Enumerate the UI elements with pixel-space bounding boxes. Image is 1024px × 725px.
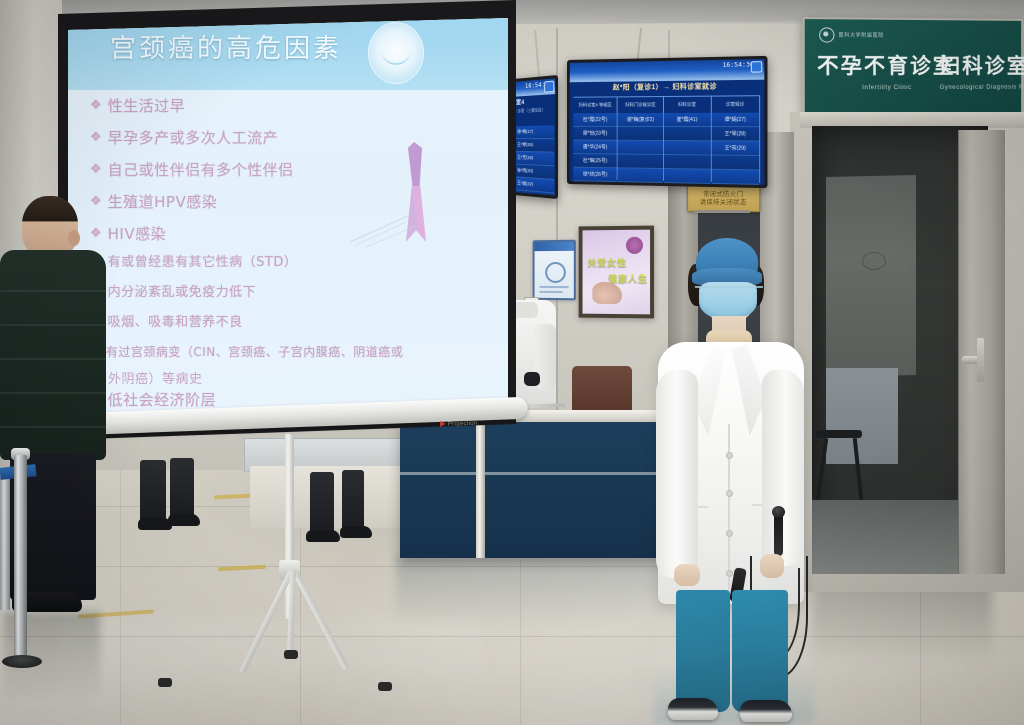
screen-brand-label: Projection bbox=[448, 421, 478, 428]
queue-cell: 杜*霞(22号) bbox=[573, 114, 617, 128]
door-curtain bbox=[826, 175, 916, 377]
sign-room-infertility-en: Infertility Clinic bbox=[817, 85, 955, 92]
queue-post bbox=[14, 455, 27, 663]
fire-door-sign: 常闭式防火门 请保持关闭状态 bbox=[687, 184, 760, 213]
staff-hand bbox=[524, 372, 540, 386]
bullet-text: 自己或性伴侣有多个性伴侣 bbox=[108, 162, 294, 179]
reception-counter bbox=[400, 418, 672, 558]
slide-bullet-9: ❖ 有过宫颈病变（CIN、宫颈癌、子宫内膜癌、阴道癌或 bbox=[90, 346, 403, 360]
slide-bullet-3: ❖ 自己或性伴侣有多个性伴侣 bbox=[90, 162, 294, 179]
bullet-text: 吸烟、吸毒和营养不良 bbox=[108, 316, 243, 331]
coat-button bbox=[726, 452, 733, 459]
fire-door-sign-line2: 请保持关闭状态 bbox=[700, 198, 747, 206]
queue-display-grid: 杜*霞(22号) 廖*怡(23号) 唐*华(24号) 杜*琳(25号) 徐*欣(… bbox=[573, 113, 760, 182]
screen-reflection bbox=[60, 620, 480, 720]
audience-legs bbox=[342, 470, 364, 532]
queue-cell-empty: . bbox=[618, 169, 663, 184]
tripod-foot bbox=[378, 682, 392, 691]
queue-column-header: 诊室候诊 bbox=[711, 97, 760, 113]
hospital-lobby-scene: 医科大学附属医院 不孕不育诊室 Infertility Clinic 妇科诊室 … bbox=[0, 0, 1024, 725]
microphone-head bbox=[772, 506, 785, 518]
sign-room-infertility-cn: 不孕不育诊室 bbox=[817, 50, 955, 81]
bullet-text: 生殖道HPV感染 bbox=[108, 194, 218, 211]
queue-cell-empty: . bbox=[711, 184, 759, 185]
audience-shoe bbox=[340, 526, 372, 538]
sign-room-gynecology-cn: 妇科诊室 bbox=[940, 50, 1024, 80]
poster-sun-graphic bbox=[626, 237, 643, 254]
bullet-text: 有过宫颈病变（CIN、宫颈癌、子宫内膜癌、阴道癌或 bbox=[106, 346, 403, 360]
surgical-mask-band bbox=[695, 286, 763, 288]
sign-room-gynecology-en: Gynecological Diagnosis Room bbox=[940, 85, 1024, 91]
audience-legs bbox=[310, 472, 334, 536]
sign-rail bbox=[694, 210, 750, 213]
queue-column-header: 妇科诊室4 等候区 bbox=[573, 98, 618, 114]
queue-cell-empty: . bbox=[618, 155, 663, 169]
coat-button bbox=[726, 490, 733, 497]
bullet-text: 有或曾经患有其它性病（STD） bbox=[108, 256, 298, 271]
speaker-hand-right bbox=[760, 554, 784, 578]
queue-display-logo-badge bbox=[751, 61, 762, 73]
queue-cell-empty: . bbox=[618, 127, 663, 141]
bullet-marker-icon: ❖ bbox=[90, 98, 102, 115]
notice-diagram bbox=[545, 262, 566, 283]
queue-cell: 唐*华(24号) bbox=[573, 141, 617, 155]
counter-reflection bbox=[396, 556, 676, 626]
ribbon-streak-decoration bbox=[348, 208, 426, 248]
queue-display-center-screen: 16:54:36 赵*阳（复诊1）→ 妇科诊室就诊 妇科诊室4 等候区 妇科门诊… bbox=[570, 59, 765, 185]
queue-cell: 廖*怡(23号) bbox=[573, 127, 617, 141]
tripod-foot bbox=[158, 678, 172, 687]
bullet-marker-icon: ❖ bbox=[90, 130, 102, 147]
speaker-doctor bbox=[652, 238, 832, 725]
queue-post-base bbox=[2, 655, 42, 668]
wall-notice-board bbox=[533, 240, 576, 301]
queue-cell-empty: . bbox=[664, 183, 710, 185]
hospital-logo: 医科大学附属医院 bbox=[819, 27, 884, 43]
queue-cell-empty: . bbox=[711, 170, 759, 185]
attendee-jacket bbox=[0, 250, 106, 460]
sign-room-gynecology: 妇科诊室 Gynecological Diagnosis Room bbox=[940, 50, 1024, 91]
speaker-hand-left bbox=[674, 564, 700, 586]
slide-bullet-2: ❖ 早孕多产或多次人工流产 bbox=[90, 130, 278, 147]
slide-title: 宫颈癌的高危因素 bbox=[110, 28, 342, 65]
speaker-shoe-right bbox=[740, 700, 792, 722]
queue-post-secondary bbox=[0, 470, 10, 610]
queue-cell: 谢*梅(复诊2) bbox=[618, 113, 663, 127]
speaker-shoe-left bbox=[668, 698, 718, 720]
bullet-text: 性生活过早 bbox=[108, 98, 186, 115]
bullet-text: 早孕多产或多次人工流产 bbox=[108, 130, 279, 147]
speaker-arm-right bbox=[762, 370, 804, 566]
coat-button bbox=[726, 570, 733, 577]
queue-cell-empty: . bbox=[664, 141, 710, 156]
audience-shoe bbox=[168, 514, 200, 526]
slide-bullet-1: ❖ 性生活过早 bbox=[90, 98, 185, 115]
poster-figure-graphic bbox=[592, 282, 622, 304]
curtain-emblem bbox=[862, 252, 886, 270]
slide-bullet-9-continuation: 外阴癌）等病史 bbox=[108, 368, 203, 387]
audience-legs bbox=[140, 460, 166, 522]
presentation-slide: 宫颈癌的高危因素 ❖ 性生活过早 ❖ 早孕 bbox=[56, 12, 508, 424]
sign-room-infertility: 不孕不育诊室 Infertility Clinic bbox=[817, 50, 955, 92]
queue-display-column-headers: 妇科诊室4 等候区 妇科门诊候诊区 妇科诊室 诊室候诊 bbox=[573, 96, 760, 115]
queue-cell-empty: . bbox=[664, 127, 710, 141]
handheld-microphone[interactable] bbox=[774, 512, 783, 556]
slide-bullet-7: ❖ 内分泌紊乱或免疫力低下 bbox=[90, 286, 256, 303]
department-wall-sign: 医科大学附属医院 不孕不育诊室 Infertility Clinic 妇科诊室 … bbox=[803, 17, 1023, 119]
scrub-pants-right bbox=[732, 590, 788, 712]
queue-column-header: 妇科门诊候诊区 bbox=[618, 97, 664, 113]
brand-mark-icon bbox=[440, 421, 446, 427]
queue-cell: 王*芳(29) bbox=[711, 142, 759, 157]
audience-shoe bbox=[138, 518, 172, 530]
queue-display-center: 16:54:36 赵*阳（复诊1）→ 妇科诊室就诊 妇科诊室4 等候区 妇科门诊… bbox=[567, 56, 767, 188]
queue-display-now-calling: 赵*阳（复诊1）→ 妇科诊室就诊 bbox=[570, 80, 765, 92]
audience-legs bbox=[170, 458, 194, 518]
queue-cell-empty: . bbox=[664, 155, 710, 170]
fire-door-sign-line1: 常闭式防火门 bbox=[703, 190, 743, 198]
queue-cell: 王*琴(28) bbox=[711, 128, 759, 143]
screen-brand-logo: Projection bbox=[440, 420, 480, 430]
notice-header-bar bbox=[535, 242, 574, 251]
attendee-head bbox=[22, 196, 78, 258]
slide-bullet-4: ❖ 生殖道HPV感染 bbox=[90, 194, 217, 211]
queue-column: 杜*霞(22号) 廖*怡(23号) 唐*华(24号) 杜*琳(25号) 徐*欣(… bbox=[573, 114, 618, 180]
projector-screen-surface: 宫颈癌的高危因素 ❖ 性生活过早 ❖ 早孕 bbox=[56, 12, 508, 424]
attendee-ear bbox=[68, 230, 80, 246]
bullet-text: 内分泌紊乱或免疫力低下 bbox=[108, 286, 257, 301]
bullet-text: HIV感染 bbox=[108, 226, 166, 243]
bullet-text: 低社会经济阶层 bbox=[108, 392, 217, 409]
queue-column: 崔*霞(41) . . . . . bbox=[664, 113, 711, 181]
door-lock-plate[interactable] bbox=[977, 338, 984, 382]
queue-cell-empty: . bbox=[618, 183, 663, 185]
slide-bullet-8: ❖ 吸烟、吸毒和营养不良 bbox=[90, 316, 243, 333]
queue-cell: 谭*娟(27) bbox=[711, 113, 759, 127]
hospital-logo-text: 医科大学附属医院 bbox=[839, 32, 884, 39]
audience-shoe bbox=[306, 530, 340, 542]
queue-cell-empty: . bbox=[711, 156, 759, 171]
health-poster: 关爱女性 健康人生 bbox=[579, 226, 654, 319]
bullet-marker-icon: ❖ bbox=[90, 162, 102, 179]
speaker-arm-left bbox=[656, 370, 698, 578]
tripod-foot bbox=[284, 650, 298, 659]
poster-text-line1: 关爱女性 bbox=[587, 256, 627, 269]
queue-cell: 崔*霞(41) bbox=[664, 113, 710, 127]
queue-cell: 杜*琳(25号) bbox=[573, 154, 617, 168]
queue-cell-empty: . bbox=[618, 141, 663, 155]
queue-display-clock: 16:54:36 bbox=[723, 62, 754, 70]
slide-bullet-list: ❖ 性生活过早 ❖ 早孕多产或多次人工流产 ❖ 自己或性伴侣有多个性伴侣 ❖ 生… bbox=[56, 90, 508, 424]
hospital-logo-mark bbox=[819, 27, 834, 42]
queue-column: 谢*梅(复诊2) . . . . . bbox=[618, 113, 664, 180]
queue-column: 谭*娟(27) 王*琴(28) 王*芳(29) . . . bbox=[711, 113, 760, 182]
queue-display-logo-badge bbox=[545, 80, 555, 92]
scrub-pants-left bbox=[676, 590, 730, 712]
slide-bullet-6: ❖ 有或曾经患有其它性病（STD） bbox=[90, 256, 297, 273]
queue-column-header: 妇科诊室 bbox=[664, 97, 711, 113]
coat-button bbox=[726, 530, 733, 537]
queue-cell-empty: . bbox=[664, 169, 710, 184]
queue-cell: 徐*欣(26号) bbox=[573, 168, 617, 182]
hospital-emblem-icon bbox=[368, 22, 424, 84]
slide-bullet-10: ❖ 低社会经济阶层 bbox=[90, 392, 216, 409]
